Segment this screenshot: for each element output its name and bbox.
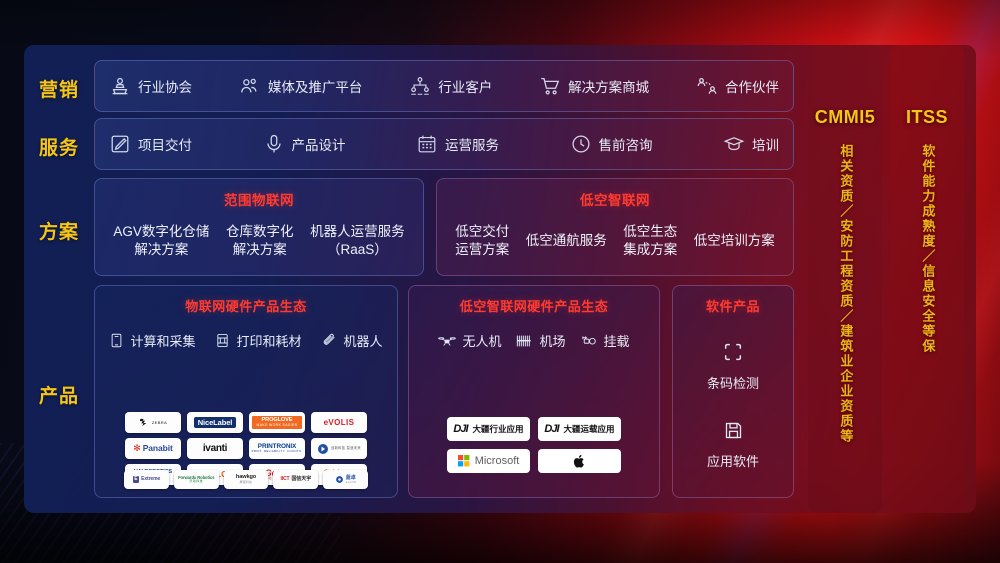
partner-logo-name: eVOLIS <box>324 419 355 427</box>
airport-icon <box>515 333 533 349</box>
solution-item[interactable]: 低空交付 运营方案 <box>455 223 509 259</box>
partner-logo-sub: 鹰眼科技 <box>240 481 253 484</box>
rail-label-product: 产品 <box>24 381 94 408</box>
project-delivery-pen-icon <box>109 133 131 155</box>
software-item-label: 应用软件 <box>673 451 793 470</box>
microsoft-logo-icon <box>458 455 470 467</box>
gear-mark-icon <box>335 475 344 484</box>
product-panel-software: 软件产品 条码检测 应用软件 <box>672 285 794 498</box>
service-item-label: 运营服务 <box>445 134 499 154</box>
software-item-label: 条码检测 <box>673 373 793 392</box>
partner-logo-label: 大疆行业应用 <box>473 423 524 435</box>
partner-logo-apple[interactable] <box>538 449 621 473</box>
solution-item[interactable]: 机器人运营服务 （RaaS） <box>310 223 405 259</box>
robot-clip-icon <box>322 332 338 349</box>
marketing-item-industry-customer[interactable]: 行业客户 <box>409 75 492 97</box>
product-category-drone[interactable]: 无人机 <box>438 331 501 350</box>
partner-logo-sub: 国信天宇 <box>292 477 312 482</box>
partner-logo[interactable]: IICT 国信天宇 <box>273 470 318 489</box>
partner-logo-sub: PRINT. RELIABILITY. COUNTS. <box>252 450 303 453</box>
partner-logo-name: IICT <box>280 477 289 482</box>
partner-logo-sub: ZEBRA <box>152 421 167 425</box>
product-category-airport[interactable]: 机场 <box>515 331 565 350</box>
partner-logo-microsoft[interactable]: Microsoft <box>447 449 530 473</box>
solution-item[interactable]: 低空生态 集成方案 <box>623 223 677 259</box>
certification-column-cmmi5: CMMI5 相关资质／安防工程资质／建筑业企业资质等 <box>808 45 882 513</box>
partner-logo-dji-delivery[interactable]: DJI 大疆运载应用 <box>538 417 621 441</box>
barcode-scan-frame-icon <box>722 341 744 363</box>
partner-logo[interactable]: NiceLabel <box>187 412 243 433</box>
partner-logo[interactable]: hawkgo 鹰眼科技 <box>224 470 269 489</box>
marketing-row-panel: 行业协会 媒体及推广平台 行业客户 <box>94 60 794 112</box>
marketing-item-label: 行业协会 <box>138 76 192 96</box>
service-item-training[interactable]: 培训 <box>723 133 779 155</box>
solution-panel-low-altitude: 低空智联网 低空交付 运营方案 低空通航服务 低空生态 集成方案 低空培训方案 <box>436 178 794 276</box>
product-design-mic-icon <box>263 133 285 155</box>
solution-item[interactable]: AGV数字化仓储 解决方案 <box>113 223 209 259</box>
dji-mark: DJI <box>544 423 558 435</box>
training-cap-icon <box>723 133 745 155</box>
product-panel-iot: 物联网硬件产品生态 计算和采集 打印和耗材 机器人 <box>94 285 398 498</box>
partner-logo[interactable]: 蓝卓 supOS <box>323 470 368 489</box>
service-item-label: 售前咨询 <box>599 134 653 154</box>
partner-logo[interactable]: E Extreme <box>124 470 169 489</box>
marketing-item-label: 合作伙伴 <box>725 76 779 96</box>
marketing-item-label: 媒体及推广平台 <box>268 76 363 96</box>
product-category-payload[interactable]: 挂载 <box>580 331 630 350</box>
partner-logo[interactable]: eVOLIS <box>311 412 367 433</box>
partner-logo-sub: supOS <box>346 481 357 484</box>
service-item-operation-service[interactable]: 运营服务 <box>416 133 499 155</box>
apple-logo-icon <box>573 454 586 469</box>
product-panel-title: 低空智联网硬件产品生态 <box>409 296 659 315</box>
rail-label-solution: 方案 <box>24 217 94 244</box>
printer-icon <box>215 332 230 349</box>
solution-mall-cart-icon <box>539 75 561 97</box>
partner-logo-name: ivanti <box>203 444 227 454</box>
product-category-label: 计算和采集 <box>130 331 195 350</box>
partner-logo-name: Extreme <box>141 477 160 482</box>
software-item-barcode[interactable]: 条码检测 <box>673 341 793 392</box>
product-category-printing[interactable]: 打印和耗材 <box>215 331 301 350</box>
cs-mark-icon <box>317 443 329 455</box>
partner-logo[interactable]: ZEBRA <box>125 412 181 433</box>
industry-association-icon <box>109 75 131 97</box>
product-category-label: 打印和耗材 <box>236 331 301 350</box>
partner-logo-dji-industry[interactable]: DJI 大疆行业应用 <box>447 417 530 441</box>
partner-logo[interactable]: ivanti <box>187 438 243 459</box>
marketing-item-label: 解决方案商城 <box>568 76 649 96</box>
rail-label-marketing: 营销 <box>24 75 94 102</box>
solution-item[interactable]: 低空通航服务 <box>526 232 607 250</box>
solution-item[interactable]: 仓库数字化 解决方案 <box>226 223 294 259</box>
product-category-label: 机器人 <box>344 331 383 350</box>
zebra-mark-icon <box>139 417 150 428</box>
low-altitude-partner-logo-grid: DJI 大疆行业应用 DJI 大疆运载应用 Microsoft <box>447 417 621 473</box>
certification-column-itss: ITSS 软件能力成熟度／信息安全等保 <box>890 45 964 513</box>
service-item-presales-consulting[interactable]: 售前咨询 <box>570 133 653 155</box>
drone-icon <box>438 334 456 348</box>
service-item-product-design[interactable]: 产品设计 <box>263 133 346 155</box>
partner-logo-name: Panabit <box>143 444 173 453</box>
product-panel-title: 物联网硬件产品生态 <box>95 296 397 315</box>
marketing-item-label: 行业客户 <box>438 76 492 96</box>
product-category-label: 挂载 <box>604 331 630 350</box>
solution-panel-title: 低空智联网 <box>437 189 793 209</box>
product-category-robot[interactable]: 机器人 <box>322 331 383 350</box>
service-item-label: 培训 <box>752 134 779 154</box>
solution-panel-iot: 范围物联网 AGV数字化仓储 解决方案 仓库数字化 解决方案 机器人运营服务 （… <box>94 178 424 276</box>
service-row-panel: 项目交付 产品设计 运营服务 <box>94 118 794 170</box>
rail-label-service: 服务 <box>24 133 94 160</box>
service-item-project-delivery[interactable]: 项目交付 <box>109 133 192 155</box>
presales-clock-icon <box>570 133 592 155</box>
partner-handshake-icon <box>696 75 718 97</box>
media-promotion-icon <box>239 75 261 97</box>
certification-title: CMMI5 <box>815 107 876 128</box>
industry-customer-icon <box>409 75 431 97</box>
marketing-item-partner[interactable]: 合作伙伴 <box>696 75 779 97</box>
product-category-label: 无人机 <box>462 331 501 350</box>
product-category-computing[interactable]: 计算和采集 <box>109 331 195 350</box>
marketing-item-solution-mall[interactable]: 解决方案商城 <box>539 75 649 97</box>
solution-item[interactable]: 低空培训方案 <box>694 232 775 250</box>
payload-mount-icon <box>580 333 598 348</box>
partner-logo[interactable]: 创新科技 智造未来 <box>311 438 367 459</box>
software-item-application[interactable]: 应用软件 <box>673 420 793 470</box>
marketing-item-media-promotion[interactable]: 媒体及推广平台 <box>239 75 363 97</box>
operation-service-calendar-icon <box>416 133 438 155</box>
partner-logo-label: 大疆运载应用 <box>564 423 615 435</box>
iot-partner-logo-grid-row5: E Extreme Forwardx Robotics 灵动科技 hawkgo … <box>124 470 368 489</box>
partner-logo-sub: 灵动科技 <box>189 480 203 483</box>
category-rail: 营销 服务 方案 产品 <box>24 45 94 513</box>
marketing-item-industry-association[interactable]: 行业协会 <box>109 75 192 97</box>
solution-panel-title: 范围物联网 <box>95 189 423 209</box>
partner-logo-name: NiceLabel <box>198 419 233 427</box>
partner-logo-label: Microsoft <box>475 455 520 467</box>
service-item-label: 项目交付 <box>138 134 192 154</box>
certification-body: 相关资质／安防工程资质／建筑业企业资质等 <box>835 144 856 444</box>
certification-body: 软件能力成熟度／信息安全等保 <box>917 144 938 354</box>
certification-title: ITSS <box>906 107 948 128</box>
partner-logo-sub: 创新科技 智造未来 <box>331 447 361 450</box>
floppy-disk-icon <box>723 420 744 441</box>
mobile-device-icon <box>109 332 124 349</box>
dji-mark: DJI <box>453 423 467 435</box>
service-item-label: 产品设计 <box>292 134 346 154</box>
product-panel-low-altitude: 低空智联网硬件产品生态 无人机 机场 <box>408 285 660 498</box>
partner-logo[interactable]: PROGLOVE MAKE WORK EASIER <box>249 412 305 433</box>
partner-logo[interactable]: PRINTRONIX PRINT. RELIABILITY. COUNTS. <box>249 438 305 459</box>
product-panel-title: 软件产品 <box>673 296 793 315</box>
partner-logo-sub: MAKE WORK EASIER <box>257 424 298 427</box>
product-category-label: 机场 <box>539 331 565 350</box>
partner-logo[interactable]: ✻ Panabit <box>125 438 181 459</box>
partner-logo[interactable]: Forwardx Robotics 灵动科技 <box>174 470 219 489</box>
